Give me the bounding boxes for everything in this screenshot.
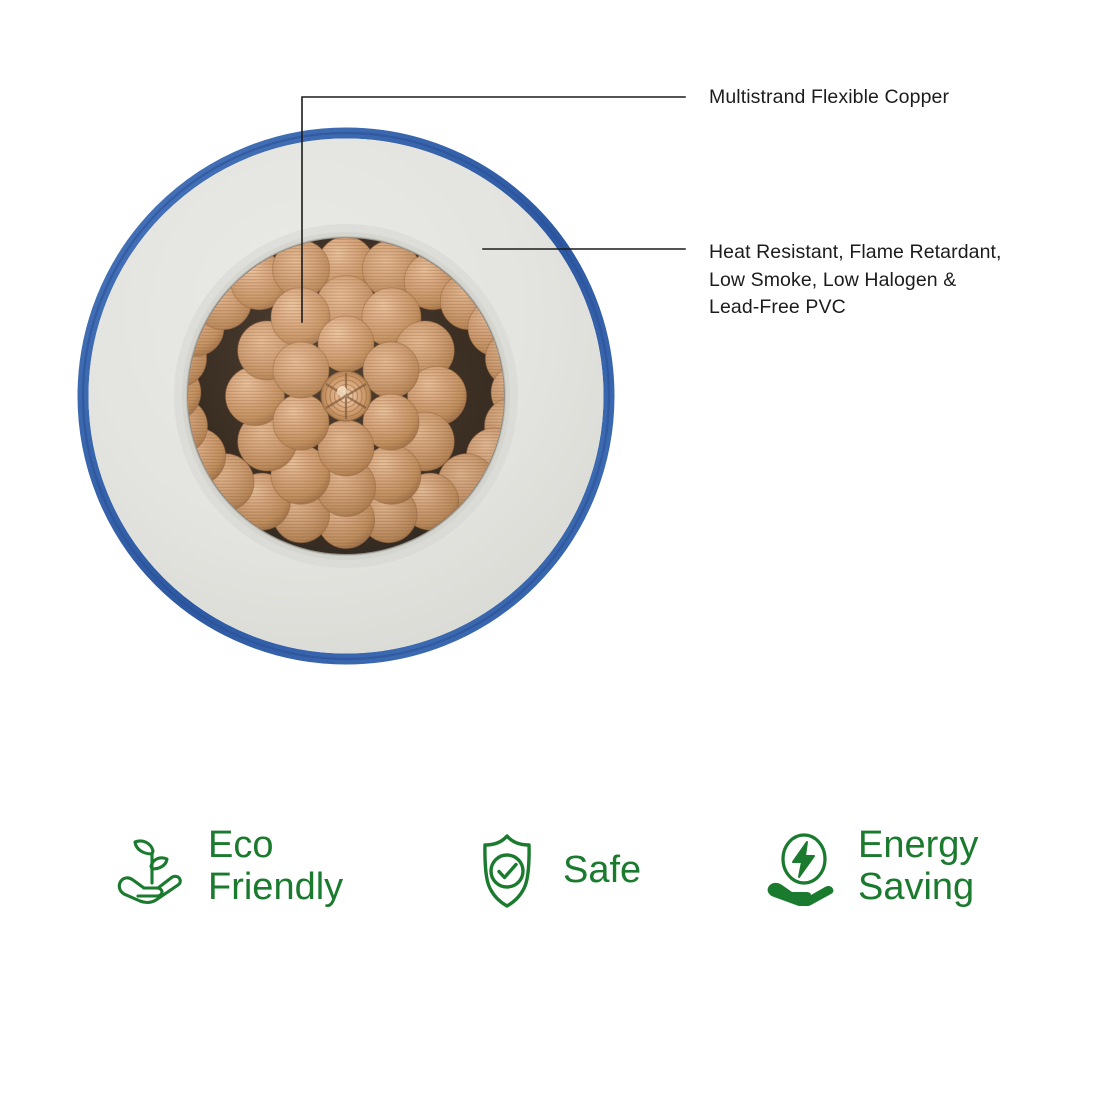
badge-safe-label: Safe bbox=[563, 849, 641, 891]
hand-holding-lightning-icon bbox=[760, 824, 844, 908]
callout-insulation-line-3: Lead-Free PVC bbox=[709, 294, 1069, 322]
feature-badge-row: Eco Friendly Safe bbox=[0, 806, 1100, 946]
badge-energy-saving: Energy Saving bbox=[760, 824, 978, 908]
page-root: Multistrand Flexible Copper Heat Resista… bbox=[0, 0, 1100, 1100]
hand-holding-sprout-icon bbox=[110, 824, 194, 908]
callout-insulation-line-1: Heat Resistant, Flame Retardant, bbox=[709, 239, 1069, 267]
badge-energy-saving-label: Energy Saving bbox=[858, 824, 978, 908]
cable-cross-section-figure bbox=[0, 0, 700, 720]
badge-eco-friendly: Eco Friendly bbox=[110, 824, 343, 908]
badge-eco-friendly-label: Eco Friendly bbox=[208, 824, 343, 908]
callout-insulation-line-2: Low Smoke, Low Halogen & bbox=[709, 267, 1069, 295]
shield-check-icon bbox=[465, 828, 549, 912]
badge-safe: Safe bbox=[465, 828, 641, 912]
callout-label-conductor: Multistrand Flexible Copper bbox=[709, 84, 949, 110]
callout-label-insulation: Heat Resistant, Flame Retardant, Low Smo… bbox=[709, 239, 1069, 322]
